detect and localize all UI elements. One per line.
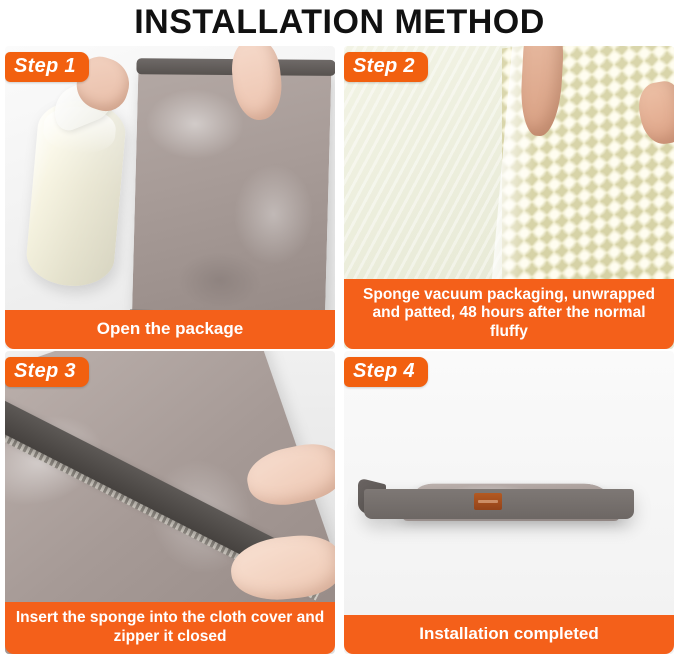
installation-method-infographic: INSTALLATION METHOD Step 1 Open the pack…	[0, 0, 679, 659]
step-4-photo	[344, 351, 674, 654]
step-caption-2: Sponge vacuum packaging, unwrapped and p…	[344, 279, 674, 349]
step-card-2[interactable]: Step 2 Sponge vacuum packaging, unwrappe…	[344, 46, 674, 349]
steps-grid: Step 1 Open the package Step 2 Sponge va…	[5, 46, 674, 654]
step-caption-3: Insert the sponge into the cloth cover a…	[5, 602, 335, 654]
step-badge-2: Step 2	[344, 52, 428, 82]
step-card-1[interactable]: Step 1 Open the package	[5, 46, 335, 349]
step-badge-1: Step 1	[5, 52, 89, 82]
page-title: INSTALLATION METHOD	[0, 0, 679, 44]
step-badge-3: Step 3	[5, 357, 89, 387]
velvet-cover-icon	[132, 64, 332, 337]
step-caption-1: Open the package	[5, 310, 335, 349]
step-badge-4: Step 4	[344, 357, 428, 387]
leather-tag-icon	[474, 493, 502, 510]
step-card-3[interactable]: Step 3 Insert the sponge into the cloth …	[5, 351, 335, 654]
step-card-4[interactable]: Step 4 Installation completed	[344, 351, 674, 654]
step-caption-4: Installation completed	[344, 615, 674, 654]
step-1-photo	[5, 46, 335, 349]
